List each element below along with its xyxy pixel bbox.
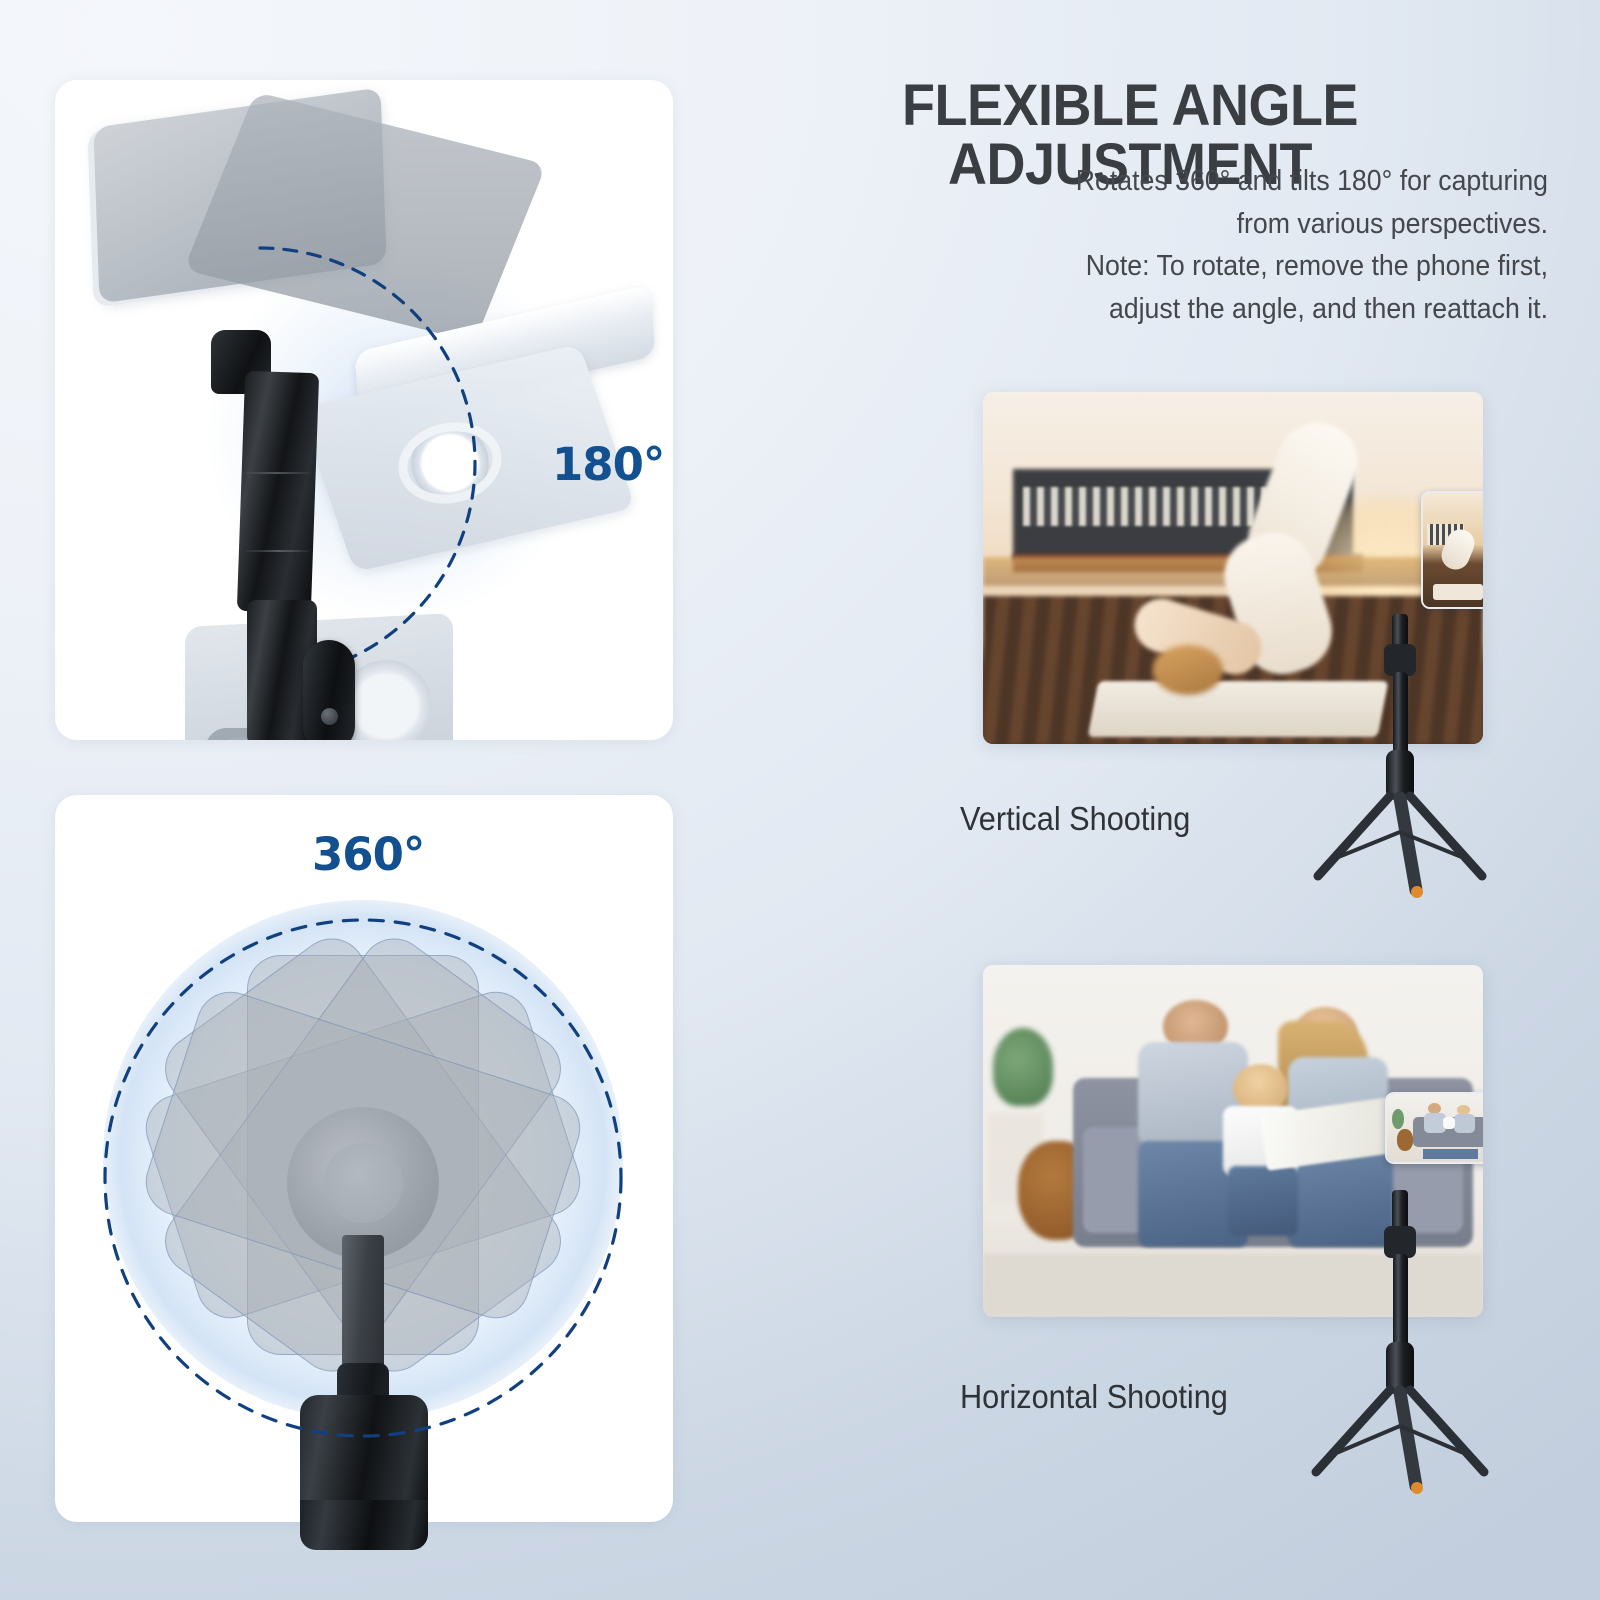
tripod-vertical bbox=[1240, 600, 1580, 940]
tilt-panel-art: 180° bbox=[55, 80, 673, 740]
page-subtitle: Rotates 360° and tilts 180° for capturin… bbox=[893, 160, 1548, 331]
subtitle-line-4: adjust the angle, and then reattach it. bbox=[893, 288, 1548, 331]
tilt-panel-card: 180° bbox=[55, 80, 673, 740]
horizontal-shooting-caption: Horizontal Shooting bbox=[960, 1378, 1228, 1416]
subtitle-line-2: from various perspectives. bbox=[893, 203, 1548, 246]
rotation-panel-art: 360° bbox=[55, 795, 673, 1522]
vertical-shooting-caption: Vertical Shooting bbox=[960, 800, 1190, 838]
rotation-panel-card: 360° bbox=[55, 795, 673, 1522]
tripod-horizontal bbox=[1240, 1180, 1580, 1540]
subtitle-line-1: Rotates 360° and tilts 180° for capturin… bbox=[893, 160, 1548, 203]
pole-seam-2 bbox=[245, 550, 311, 552]
subtitle-line-3: Note: To rotate, remove the phone first, bbox=[893, 245, 1548, 288]
phone-preview-vertical bbox=[1421, 491, 1483, 609]
rotation-circle-dashed bbox=[55, 795, 673, 1522]
magsafe-mount-head bbox=[303, 640, 355, 740]
pole-seam-1 bbox=[245, 472, 311, 474]
phone-preview-horizontal bbox=[1385, 1092, 1483, 1164]
rotation-base-foot bbox=[300, 1500, 428, 1550]
tilt-arc-dashed bbox=[55, 80, 673, 740]
tilt-degree-label: 180° bbox=[552, 438, 664, 491]
mount-button bbox=[321, 708, 338, 725]
product-pole-upper bbox=[237, 371, 319, 613]
